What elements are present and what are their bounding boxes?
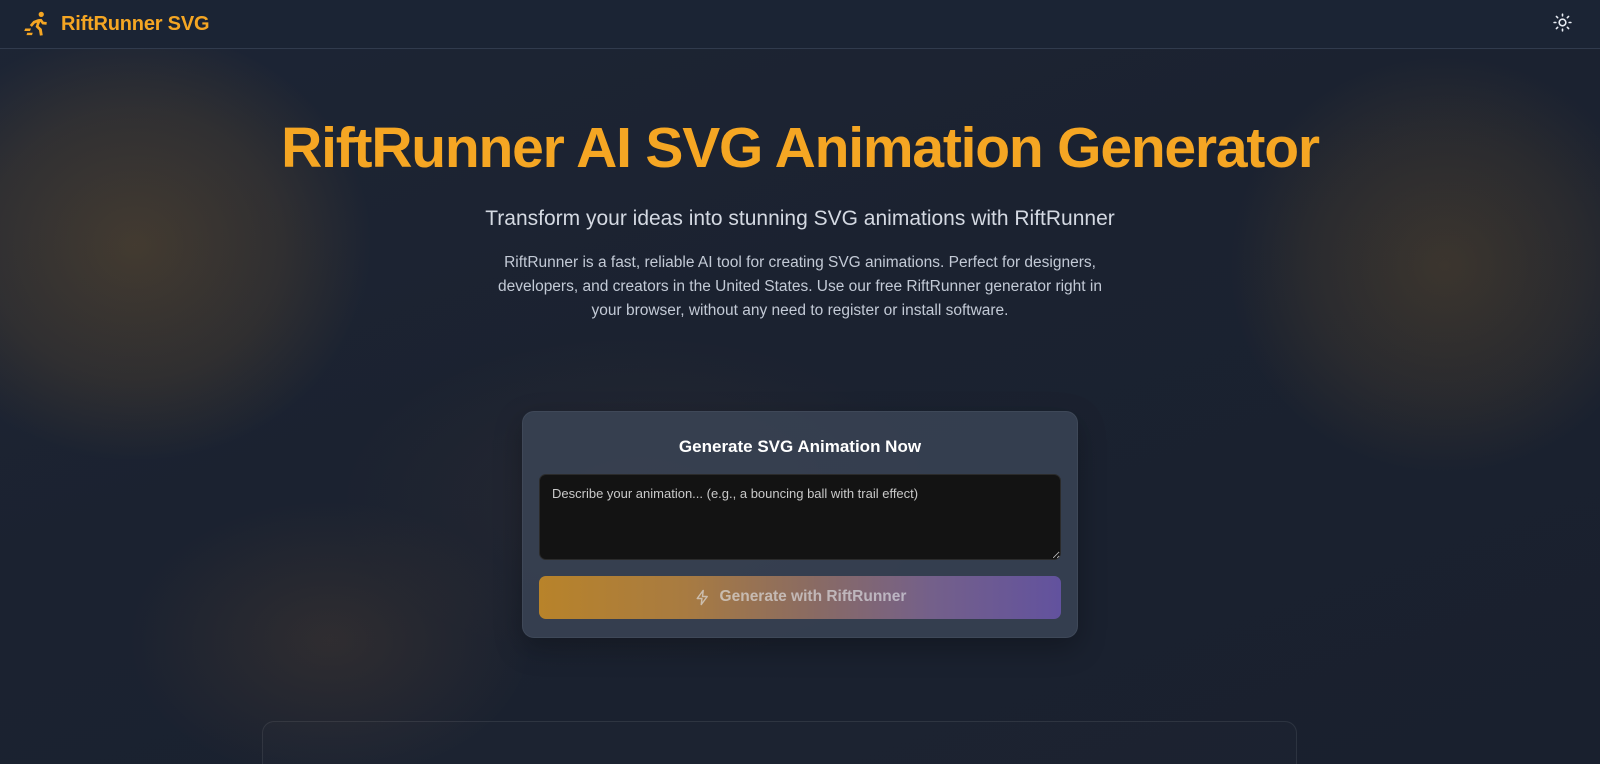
generator-card-title: Generate SVG Animation Now — [539, 437, 1061, 457]
generator-card: Generate SVG Animation Now Generate with… — [522, 411, 1078, 638]
below-fold-panel — [262, 721, 1297, 764]
site-header: RiftRunner SVG — [0, 0, 1600, 49]
hero-description: RiftRunner is a fast, reliable AI tool f… — [492, 251, 1108, 323]
page-title: RiftRunner AI SVG Animation Generator — [0, 117, 1600, 181]
brand-logo-link[interactable]: RiftRunner SVG — [22, 9, 209, 39]
lightning-bolt-icon — [694, 589, 711, 606]
theme-toggle-button[interactable] — [1546, 8, 1578, 40]
generate-button[interactable]: Generate with RiftRunner — [539, 576, 1061, 619]
hero-section: RiftRunner AI SVG Animation Generator Tr… — [0, 49, 1600, 323]
generator-section: Generate SVG Animation Now Generate with… — [0, 411, 1600, 638]
sun-icon — [1553, 13, 1572, 35]
brand-name: RiftRunner SVG — [61, 13, 209, 36]
prompt-input[interactable] — [539, 474, 1061, 560]
generate-button-label: Generate with RiftRunner — [720, 588, 907, 606]
hero-subtitle: Transform your ideas into stunning SVG a… — [0, 207, 1600, 231]
runner-icon — [22, 9, 52, 39]
